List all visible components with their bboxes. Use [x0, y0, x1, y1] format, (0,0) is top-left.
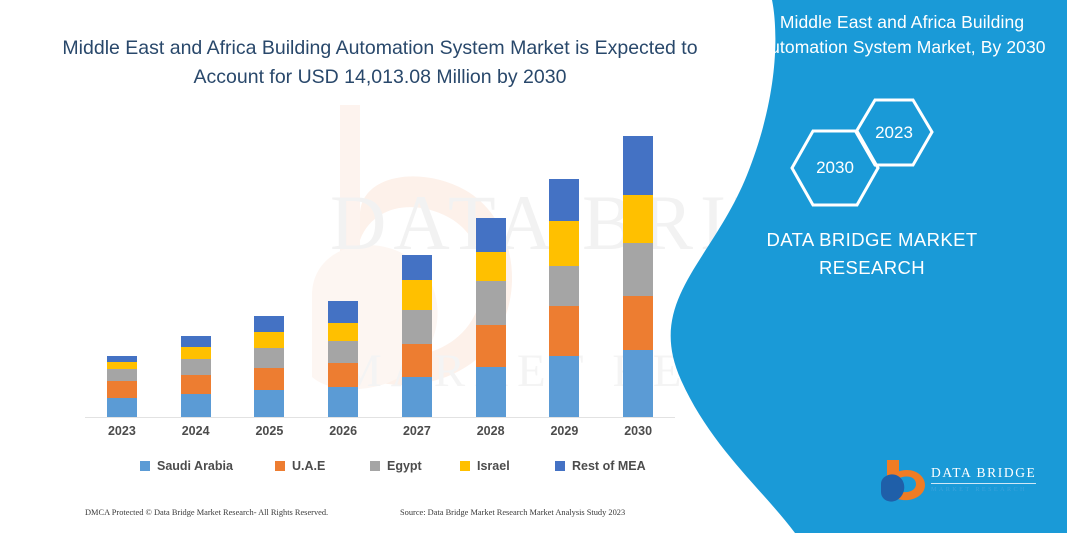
x-label-2029: 2029 — [534, 424, 594, 438]
infographic-root: DATA BRIDGE MARKET RESEARCH Middle East … — [0, 0, 1067, 533]
bar-segment-u-a-e — [107, 381, 137, 398]
bar-segment-u-a-e — [623, 296, 653, 350]
bar-2027 — [402, 255, 432, 417]
bar-2028 — [476, 218, 506, 417]
logo-divider — [931, 483, 1036, 484]
hexagon-group: 2030 2023 — [752, 95, 1052, 200]
bar-segment-u-a-e — [476, 325, 506, 367]
bar-segment-egypt — [181, 359, 211, 375]
bar-2026 — [328, 301, 358, 417]
bar-segment-egypt — [107, 369, 137, 381]
bar-segment-saudi-arabia — [623, 350, 653, 417]
x-label-2028: 2028 — [461, 424, 521, 438]
bar-segment-saudi-arabia — [402, 377, 432, 417]
bar-segment-rest-of-mea — [623, 136, 653, 195]
bar-2030 — [623, 136, 653, 417]
page-title: Middle East and Africa Building Automati… — [60, 34, 700, 92]
x-label-2026: 2026 — [313, 424, 373, 438]
bar-segment-u-a-e — [402, 344, 432, 377]
bar-segment-egypt — [328, 341, 358, 363]
bar-segment-egypt — [549, 266, 579, 306]
x-axis-line — [85, 417, 675, 418]
bar-segment-egypt — [623, 243, 653, 296]
bar-segment-israel — [623, 195, 653, 243]
brand-name: DATA BRIDGE MARKET RESEARCH — [727, 226, 1017, 282]
x-label-2023: 2023 — [92, 424, 152, 438]
legend-label: Rest of MEA — [572, 459, 646, 473]
bar-segment-israel — [328, 323, 358, 341]
footer-source: Source: Data Bridge Market Research Mark… — [400, 508, 625, 517]
panel-title: Middle East and Africa Building Automati… — [752, 10, 1052, 60]
bar-segment-egypt — [476, 281, 506, 325]
legend-swatch-icon — [140, 461, 150, 471]
legend-swatch-icon — [460, 461, 470, 471]
bar-segment-saudi-arabia — [549, 356, 579, 417]
bar-segment-rest-of-mea — [254, 316, 284, 332]
bar-segment-saudi-arabia — [476, 367, 506, 417]
legend-item-israel[interactable]: Israel — [460, 455, 510, 477]
bar-segment-egypt — [254, 348, 284, 368]
brand-name-line2: RESEARCH — [727, 254, 1017, 282]
x-label-2030: 2030 — [608, 424, 668, 438]
bar-segment-rest-of-mea — [181, 336, 211, 347]
logo-main-text: DATA BRIDGE — [931, 465, 1036, 481]
bar-2025 — [254, 316, 284, 417]
legend-item-rest-of-mea[interactable]: Rest of MEA — [555, 455, 646, 477]
bar-segment-u-a-e — [254, 368, 284, 390]
legend-swatch-icon — [555, 461, 565, 471]
company-logo: DATA BRIDGE MARKET RESEARCH — [877, 458, 1052, 506]
bar-2029 — [549, 179, 579, 417]
data-bridge-b-icon — [877, 458, 929, 504]
x-axis-labels: 20232024202520262027202820292030 — [85, 424, 675, 444]
bar-segment-saudi-arabia — [107, 398, 137, 417]
bar-segment-rest-of-mea — [328, 301, 358, 323]
bar-chart-plot — [85, 110, 675, 418]
chart-area: DATA BRIDGE MARKET RESEARCH Middle East … — [0, 0, 720, 533]
bar-segment-israel — [402, 280, 432, 310]
bar-segment-egypt — [402, 310, 432, 344]
legend-item-u-a-e[interactable]: U.A.E — [275, 455, 325, 477]
bar-2023 — [107, 356, 137, 417]
legend-swatch-icon — [275, 461, 285, 471]
bar-segment-israel — [254, 332, 284, 348]
x-label-2024: 2024 — [166, 424, 226, 438]
legend-label: Israel — [477, 459, 510, 473]
bar-segment-rest-of-mea — [549, 179, 579, 221]
bar-segment-u-a-e — [328, 363, 358, 387]
legend-item-egypt[interactable]: Egypt — [370, 455, 422, 477]
x-label-2025: 2025 — [239, 424, 299, 438]
bar-segment-u-a-e — [549, 306, 579, 356]
bar-segment-israel — [549, 221, 579, 266]
brand-name-line1: DATA BRIDGE MARKET — [727, 226, 1017, 254]
bar-2024 — [181, 336, 211, 417]
bar-segment-saudi-arabia — [254, 390, 284, 417]
bar-segment-saudi-arabia — [328, 387, 358, 417]
hexagon-2023-label: 2023 — [853, 97, 935, 168]
bar-segment-rest-of-mea — [402, 255, 432, 280]
bar-segment-rest-of-mea — [476, 218, 506, 252]
logo-wordmark: DATA BRIDGE MARKET RESEARCH — [931, 465, 1036, 493]
footer-copyright: DMCA Protected © Data Bridge Market Rese… — [85, 508, 328, 517]
legend-label: Egypt — [387, 459, 422, 473]
legend-label: Saudi Arabia — [157, 459, 233, 473]
legend-label: U.A.E — [292, 459, 325, 473]
x-label-2027: 2027 — [387, 424, 447, 438]
legend-item-saudi-arabia[interactable]: Saudi Arabia — [140, 455, 233, 477]
logo-sub-text: MARKET RESEARCH — [931, 486, 1036, 493]
legend-swatch-icon — [370, 461, 380, 471]
brand-panel: Middle East and Africa Building Automati… — [667, 0, 1067, 533]
hexagon-2023: 2023 — [853, 97, 935, 168]
bar-segment-israel — [181, 347, 211, 359]
bar-segment-israel — [476, 252, 506, 281]
chart-legend: Saudi ArabiaU.A.EEgyptIsraelRest of MEA — [85, 455, 675, 477]
bar-segment-u-a-e — [181, 375, 211, 394]
bar-segment-saudi-arabia — [181, 394, 211, 417]
bar-segment-israel — [107, 362, 137, 369]
